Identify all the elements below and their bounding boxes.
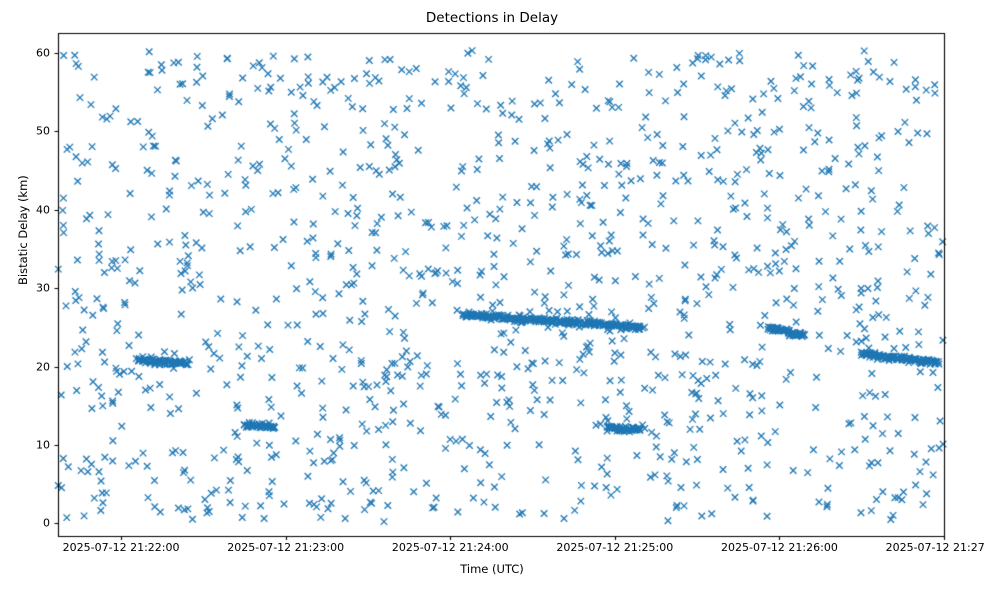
x-tick-label: 2025-07-12 21:27:00: [886, 541, 984, 554]
y-tick-label: 0: [22, 517, 50, 530]
y-tick-label: 60: [22, 46, 50, 59]
x-tick-label: 2025-07-12 21:24:00: [392, 541, 509, 554]
y-tick-label: 10: [22, 438, 50, 451]
y-tick-label: 30: [22, 282, 50, 295]
y-tick-label: 40: [22, 203, 50, 216]
x-tick-label: 2025-07-12 21:22:00: [63, 541, 180, 554]
scatter-plot-canvas: [0, 0, 984, 590]
y-tick-label: 20: [22, 360, 50, 373]
x-tick-label: 2025-07-12 21:26:00: [721, 541, 838, 554]
x-tick-label: 2025-07-12 21:25:00: [556, 541, 673, 554]
y-tick-label: 50: [22, 125, 50, 138]
figure-canvas-container: Detections in Delay Time (UTC) Bistatic …: [0, 0, 984, 590]
x-tick-label: 2025-07-12 21:23:00: [227, 541, 344, 554]
